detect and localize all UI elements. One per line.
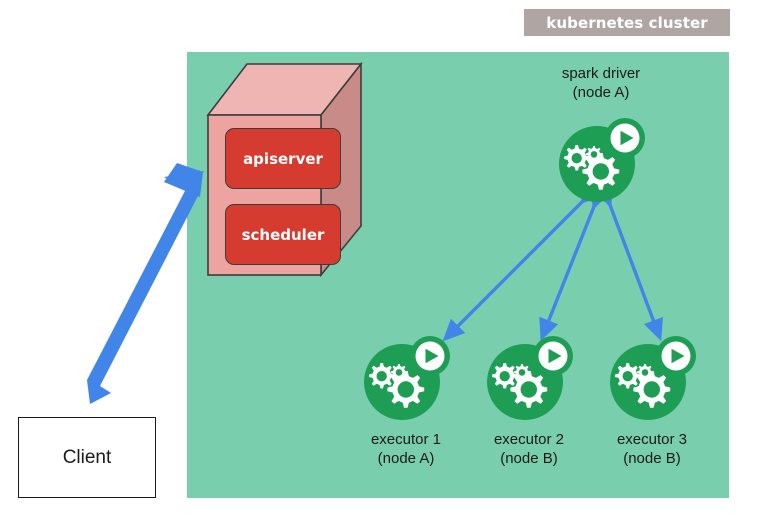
executor-1-node[interactable] [358, 330, 454, 426]
kubernetes-control-plane-cube: apiserver scheduler [204, 62, 364, 277]
executor-1-caption-line2: (node A) [338, 449, 474, 468]
scheduler-label: scheduler [242, 226, 325, 244]
gears-play-icon [604, 330, 700, 426]
kubernetes-cluster-label: kubernetes cluster [546, 14, 708, 32]
executor-2-caption-line2: (node B) [461, 449, 597, 468]
executor-2-node[interactable] [481, 330, 577, 426]
play-button-icon [611, 124, 640, 153]
kubernetes-cluster-banner: kubernetes cluster [524, 9, 730, 36]
scheduler-box[interactable]: scheduler [225, 204, 341, 265]
client-label: Client [63, 447, 112, 469]
spark-driver-node[interactable] [553, 112, 649, 208]
executor-3-caption: executor 3 (node B) [584, 430, 720, 468]
executor-1-caption-line1: executor 1 [338, 430, 474, 449]
executor-1-caption: executor 1 (node A) [338, 430, 474, 468]
executor-3-node[interactable] [604, 330, 700, 426]
control-plane-components: apiserver scheduler [225, 128, 341, 265]
spark-submit-label: spark-submit [106, 188, 177, 300]
play-button-icon [662, 342, 691, 371]
executor-2-caption: executor 2 (node B) [461, 430, 597, 468]
client-box: Client [18, 417, 156, 498]
play-button-icon [539, 342, 568, 371]
gears-play-icon [553, 112, 649, 208]
spark-driver-caption-line2: (node A) [533, 83, 669, 102]
gears-play-icon [481, 330, 577, 426]
diagram-canvas: kubernetes cluster Client spark-submit a… [0, 0, 761, 516]
executor-3-caption-line2: (node B) [584, 449, 720, 468]
spark-driver-caption-line1: spark driver [533, 64, 669, 83]
spark-driver-caption: spark driver (node A) [533, 64, 669, 102]
play-button-icon [416, 342, 445, 371]
apiserver-label: apiserver [243, 150, 323, 168]
executor-2-caption-line1: executor 2 [461, 430, 597, 449]
gears-play-icon [358, 330, 454, 426]
apiserver-box[interactable]: apiserver [225, 128, 341, 189]
executor-3-caption-line1: executor 3 [584, 430, 720, 449]
